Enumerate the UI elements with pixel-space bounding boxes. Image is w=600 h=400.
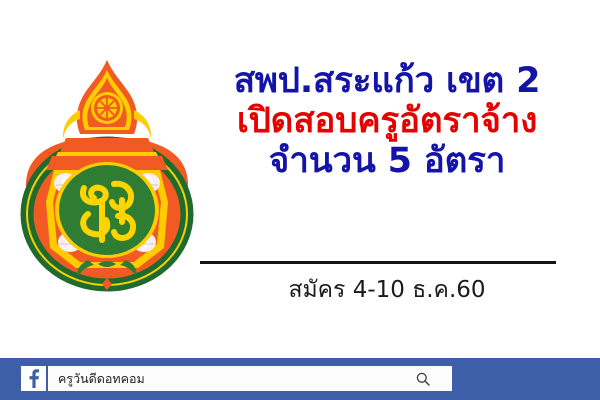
emblem-tier-1 (60, 138, 154, 152)
magnifier-icon[interactable] (416, 372, 430, 386)
application-period-text: สมัคร 4-10 ธ.ค.60 (188, 272, 586, 308)
announcement-banner: สพป.สระแก้ว เขต 2 เปิดสอบครูอัตราจ้าง จำ… (0, 0, 600, 400)
facebook-search-group: ครูวันดีดอทคอม (21, 366, 452, 391)
facebook-search-value: ครูวันดีดอทคอม (48, 369, 145, 389)
dharma-wheel-hub (104, 105, 110, 111)
headline-block: สพป.สระแก้ว เขต 2 เปิดสอบครูอัตราจ้าง จำ… (188, 62, 586, 182)
facebook-f-glyph (25, 369, 42, 388)
headline-line-2: เปิดสอบครูอัตราจ้าง (188, 102, 586, 141)
monogram-oval (59, 165, 155, 255)
facebook-logo-icon[interactable] (21, 366, 46, 391)
facebook-bar: ครูวันดีดอทคอม (0, 358, 600, 400)
headline-line-3: จำนวน 5 อัตรา (188, 142, 586, 181)
obec-emblem (18, 52, 196, 302)
obec-emblem-graphic (18, 52, 196, 302)
headline-line-1: สพป.สระแก้ว เขต 2 (188, 62, 586, 101)
headline-divider (200, 261, 556, 264)
facebook-search-input[interactable]: ครูวันดีดอทคอม (46, 366, 452, 391)
